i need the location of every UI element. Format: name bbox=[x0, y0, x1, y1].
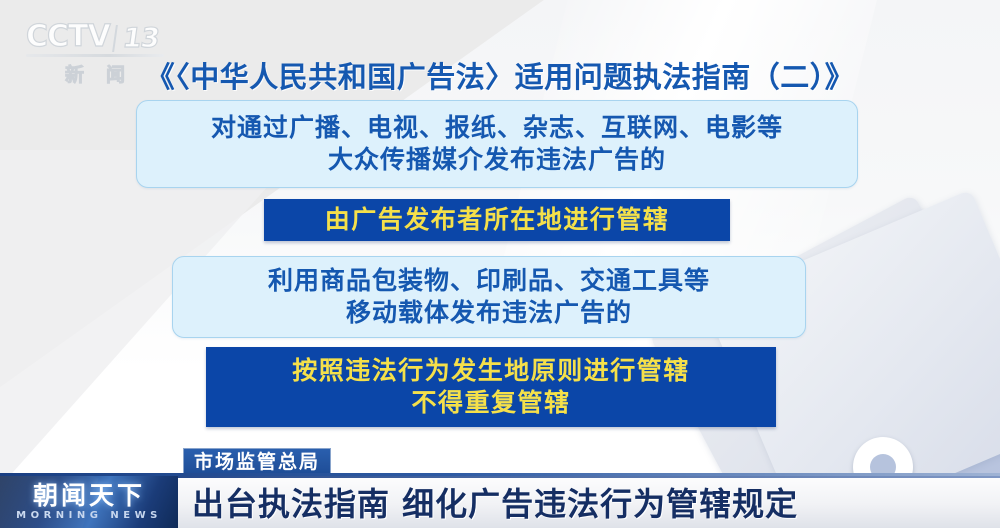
info-box-3-line-2: 移动载体发布违法广告的 bbox=[346, 297, 632, 329]
cctv-channel-number: 13 bbox=[112, 25, 160, 52]
page-title: 《〈中华人民共和国广告法〉适用问题执法指南（二）》 bbox=[0, 54, 1000, 96]
headline-text: 出台执法指南 细化广告违法行为管辖规定 bbox=[192, 479, 798, 525]
info-box-3-line-1: 利用商品包装物、印刷品、交通工具等 bbox=[268, 265, 710, 297]
broadcast-screen: CCTV 13 新 闻 《〈中华人民共和国广告法〉适用问题执法指南（二）》 对通… bbox=[0, 0, 1000, 528]
info-box-1-line-1: 对通过广播、电视、报纸、杂志、互联网、电影等 bbox=[211, 112, 783, 144]
program-name-cn: 朝闻天下 bbox=[33, 483, 145, 509]
info-box-1-line-2: 大众传播媒介发布违法广告的 bbox=[328, 144, 666, 176]
cctv-wordmark: CCTV bbox=[26, 22, 110, 52]
info-box-rule-1: 由广告发布者所在地进行管辖 bbox=[264, 199, 730, 241]
headline-container: 出台执法指南 细化广告违法行为管辖规定 bbox=[178, 476, 1000, 528]
info-box-rule-2: 按照违法行为发生地原则进行管辖 不得重复管辖 bbox=[206, 347, 776, 427]
info-box-condition-2: 利用商品包装物、印刷品、交通工具等 移动载体发布违法广告的 bbox=[172, 256, 806, 338]
info-box-4-line-2: 不得重复管辖 bbox=[411, 387, 570, 419]
info-box-4-line-1: 按照违法行为发生地原则进行管辖 bbox=[292, 355, 690, 387]
info-box-condition-1: 对通过广播、电视、报纸、杂志、互联网、电影等 大众传播媒介发布违法广告的 bbox=[136, 100, 858, 188]
cctv-logo-row: CCTV 13 bbox=[26, 22, 166, 52]
info-box-2-line-1: 由广告发布者所在地进行管辖 bbox=[325, 204, 670, 236]
program-logo: 朝闻天下 MORNING NEWS bbox=[0, 476, 178, 528]
lower-third-banner: 朝闻天下 MORNING NEWS 出台执法指南 细化广告违法行为管辖规定 bbox=[0, 476, 1000, 528]
program-name-en: MORNING NEWS bbox=[16, 510, 162, 521]
